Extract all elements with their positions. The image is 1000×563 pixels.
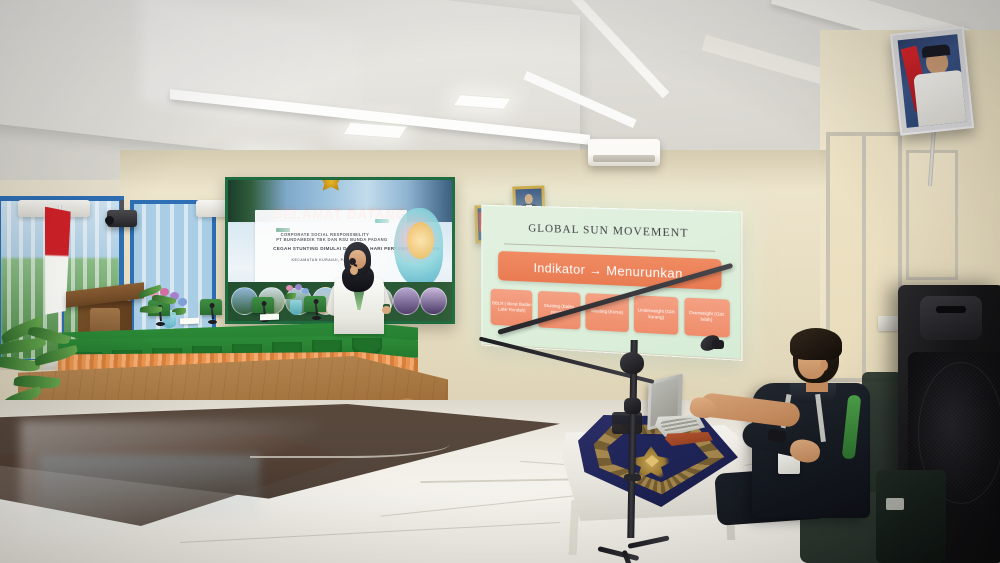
indicator-box-overweight: Overweight (Gizi lebih) <box>684 297 729 337</box>
banner-logo-right <box>375 219 389 223</box>
meeting-hall-photo: SELAMAT DATANG DI KANTOR CAMAT KURANJI C… <box>0 0 1000 563</box>
mic-stand-tripod-legs <box>598 520 670 558</box>
projector-lens-icon <box>105 216 114 225</box>
boom-height-clamp[interactable] <box>624 398 641 414</box>
indicator-box-underweight: Underweight (Gizi kurang) <box>634 295 678 335</box>
mic-base-2 <box>208 320 217 324</box>
air-conditioner-back <box>588 139 660 166</box>
speaker-horn-slot <box>936 306 966 313</box>
presenter-left-hand <box>350 266 358 275</box>
name-card-2 <box>260 314 279 321</box>
official-portrait <box>890 26 974 135</box>
boom-lower-collar <box>624 474 641 481</box>
slide-headline-text: Indikator → Menurunkan <box>534 260 683 281</box>
slide-indicator-row: BBLR ( Berat Badan Lahir Rendah) Stuntin… <box>491 289 729 338</box>
equipment-bag <box>612 412 642 434</box>
floor-cable-secondary <box>250 430 450 458</box>
slide-headline-band: Indikator → Menurunkan <box>498 251 721 290</box>
floor-window-reflection <box>40 455 260 525</box>
flower-vase-center <box>290 300 302 315</box>
technician-hair <box>790 328 842 360</box>
speaker-horn <box>920 296 982 340</box>
banner-photo-7: KERAJINAN <box>393 287 420 315</box>
equipment-bag-label <box>886 498 904 510</box>
banner-graphic-circle <box>407 222 434 259</box>
presenter-speaker <box>330 242 388 334</box>
potted-plant-stage <box>136 282 188 326</box>
slide-divider <box>503 243 715 251</box>
presenter-right-hand <box>382 306 391 314</box>
microphone-clip <box>712 340 724 349</box>
window-right-frame <box>862 132 866 382</box>
technician-ear <box>820 360 828 371</box>
boom-tilt-joint[interactable] <box>620 352 644 374</box>
banner-line-2: PT BUNDAMEDIK TBK DAN RSU BUNDA PADANG <box>276 237 373 242</box>
wall-socket <box>878 316 898 331</box>
projection-screen: GLOBAL SUN MOVEMENT Indikator → Menurunk… <box>481 205 740 359</box>
banner-logo-left <box>276 228 290 232</box>
equipment-bag-right <box>876 470 946 563</box>
banner-photo-8: KULINER <box>420 287 447 315</box>
slide-content: GLOBAL SUN MOVEMENT Indikator → Menurunk… <box>481 205 740 359</box>
microphone-head-icon <box>349 258 356 265</box>
slide-title: GLOBAL SUN MOVEMENT <box>481 221 740 241</box>
mic-base-4 <box>312 316 321 320</box>
